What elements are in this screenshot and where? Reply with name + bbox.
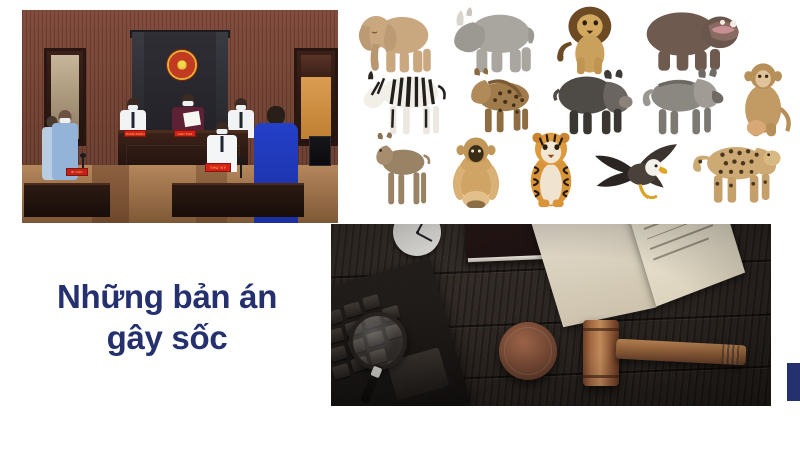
gavel-desk-photo (331, 224, 771, 406)
wild-boar-icon (552, 68, 634, 136)
accent-bar-right (787, 363, 800, 401)
elephant-icon (356, 6, 440, 74)
witness-stand (172, 183, 304, 217)
keyboard-key (331, 309, 343, 326)
keyboard-key (332, 363, 351, 380)
zebra-icon (358, 68, 454, 136)
clock-center-pin (416, 231, 419, 234)
gavel-head-icon (583, 320, 619, 386)
tie (240, 112, 243, 128)
keyboard-key (331, 345, 348, 362)
monkey-icon (734, 58, 794, 138)
gibbon-icon (442, 132, 510, 208)
leopard-icon (690, 134, 784, 206)
deer-icon (368, 130, 432, 206)
nameplate-clerk: THƯ KÝ (205, 163, 231, 172)
tiger-icon (518, 128, 584, 208)
nameplate-label: BỊ CÁO (67, 169, 87, 175)
nameplate-judge-left: THẨM PHÁN (124, 130, 146, 137)
door-pane (301, 55, 331, 139)
title-line-2: gây sốc (14, 317, 320, 358)
courtroom-door-right (294, 48, 338, 146)
face-mask (60, 118, 71, 123)
face-mask (183, 101, 194, 106)
tie (221, 136, 224, 152)
hyena-icon (462, 68, 540, 134)
face-mask (128, 105, 138, 110)
microphone-right (240, 160, 242, 178)
face-mask (236, 105, 246, 110)
nameplate-label: THẨM PHÁN (125, 131, 145, 137)
keyboard-key (343, 301, 362, 318)
keyboard-key (331, 370, 332, 387)
hippopotamus-icon (640, 2, 740, 74)
rhinoceros-icon (448, 4, 540, 74)
clock-minute-hand (417, 232, 433, 241)
verdict-paper (183, 111, 201, 127)
lion-icon (550, 4, 628, 76)
page-title: Những bản án gây sốc (14, 276, 320, 358)
keyboard-key (362, 294, 381, 311)
keyboard-key (331, 327, 345, 344)
gavel-sound-block (499, 322, 557, 380)
tie (132, 112, 135, 128)
nameplate-presiding: CHỦ TỌA (174, 130, 196, 137)
text-line (650, 224, 713, 249)
magnifying-glass-icon (349, 312, 407, 370)
nameplate-label: CHỦ TỌA (175, 131, 195, 137)
text-line (653, 237, 709, 260)
face-mask (217, 129, 228, 134)
title-line-1: Những bản án (57, 278, 277, 315)
nameplate-label: THƯ KÝ (206, 164, 230, 172)
courtroom-monitor (309, 136, 331, 166)
slide-canvas: THẨM PHÁN CHỦ TỌA (0, 0, 800, 450)
wolf-icon (642, 66, 726, 136)
wildlife-collage (350, 0, 800, 210)
eagle-icon (590, 140, 682, 206)
nameplate-defendant: BỊ CÁO (66, 168, 88, 176)
courtroom-photo: THẨM PHÁN CHỦ TỌA (22, 10, 338, 223)
defense-table (24, 183, 110, 217)
national-emblem-icon (167, 50, 197, 80)
